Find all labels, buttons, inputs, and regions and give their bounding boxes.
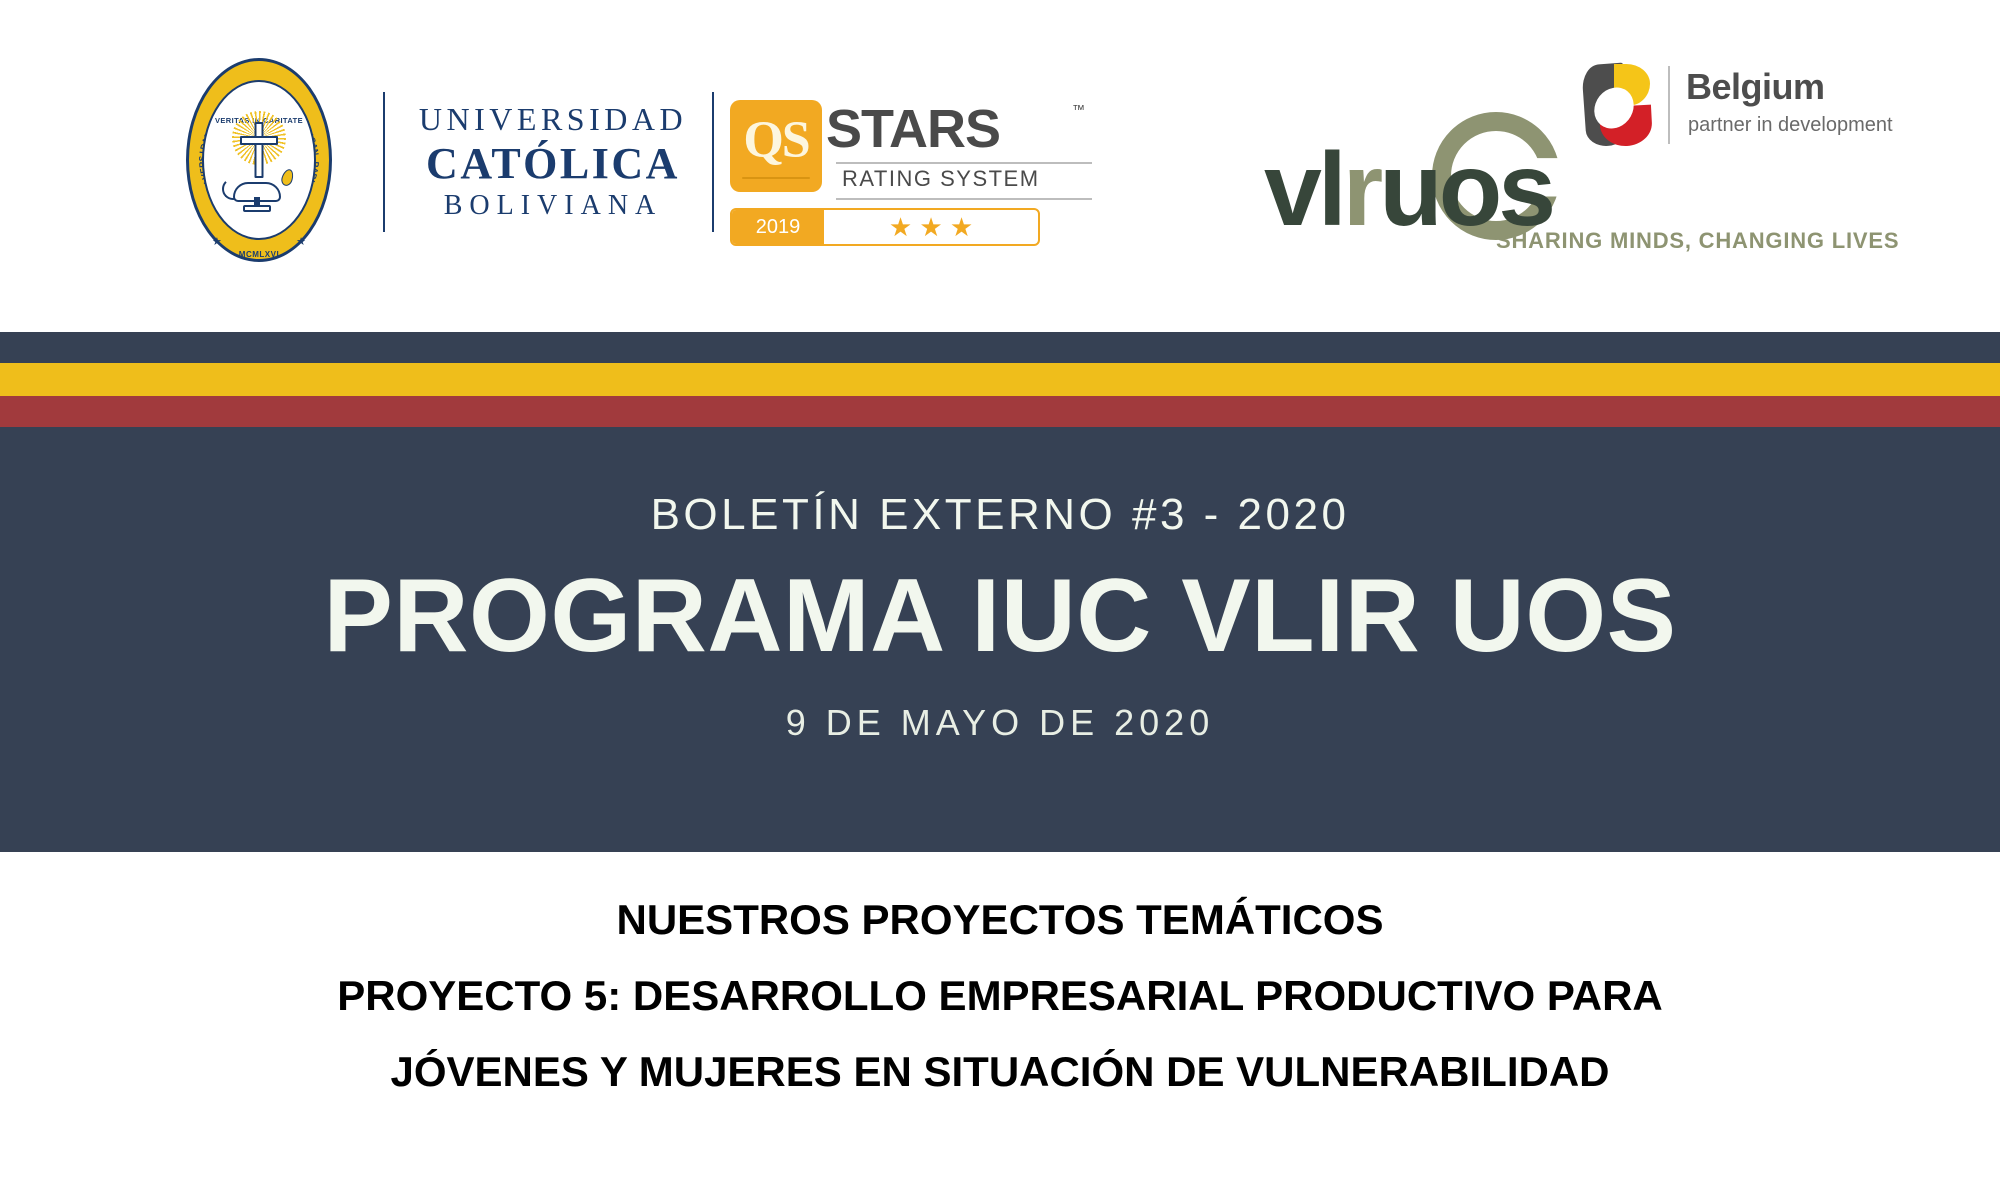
belgium-mark-icon [1580, 62, 1652, 148]
qs-rule-top [836, 162, 1092, 164]
vliruos-wordmark: vlruos [1264, 138, 1552, 242]
qs-rating-system-word: RATING SYSTEM [842, 166, 1040, 192]
ucb-wordmark-line2: CATÓLICA [418, 139, 688, 188]
vliruos-word-part1: vl [1264, 132, 1343, 248]
page-title: PROGRAMA IUC VLIR UOS [0, 564, 2000, 668]
lamp-foot [243, 205, 271, 212]
logo-bar: UNIVERSIDAD CATÓLICA BOLIVIANA "SAN PABL… [0, 0, 2000, 332]
qs-year-label: 2019 [732, 210, 824, 244]
ucb-wordmark-line3: BOLIVIANA [418, 188, 688, 223]
qs-trademark-mark: ™ [1072, 102, 1085, 117]
newsletter-page: UNIVERSIDAD CATÓLICA BOLIVIANA "SAN PABL… [0, 0, 2000, 1185]
seal-star-left-icon: ★ [212, 237, 222, 248]
qs-star-rating-icons: ★ ★ ★ [824, 210, 1038, 244]
title-banner: BOLETÍN EXTERNO #3 - 2020 PROGRAMA IUC V… [0, 332, 2000, 852]
banner-date: 9 DE MAYO DE 2020 [0, 702, 2000, 744]
belgium-subtitle: partner in development [1688, 114, 1893, 137]
gold-stripe [0, 363, 2000, 396]
qs-tile-underline [742, 177, 810, 179]
body-subheading-line1: PROYECTO 5: DESARROLLO EMPRESARIAL PRODU… [0, 970, 2000, 1023]
belgium-logo: Belgium partner in development [1580, 62, 1900, 148]
qs-rule-bottom [836, 198, 1092, 200]
vliruos-word-part2: r [1343, 132, 1379, 248]
ucb-wordmark: UNIVERSIDAD CATÓLICA BOLIVIANA [418, 100, 688, 223]
belgium-title: Belgium [1686, 66, 1825, 108]
qs-year-rating-bar: 2019 ★ ★ ★ [730, 208, 1040, 246]
vliruos-tagline: SHARING MINDS, CHANGING LIVES [1496, 228, 1899, 254]
flame-icon [280, 168, 296, 188]
seal-founding-year: MCMLXVI [239, 250, 279, 259]
logo-divider-right [712, 92, 714, 232]
banner-kicker: BOLETÍN EXTERNO #3 - 2020 [0, 490, 2000, 540]
ucb-seal-icon: UNIVERSIDAD CATÓLICA BOLIVIANA "SAN PABL… [186, 58, 332, 262]
logo-divider-left [383, 92, 385, 232]
qs-stars-word: STARS [826, 102, 1000, 156]
qs-tile-text: QS [743, 111, 808, 170]
body-subheading-line2: JÓVENES Y MUJERES EN SITUACIÓN DE VULNER… [0, 1046, 2000, 1099]
belgium-divider [1668, 66, 1670, 144]
body-section: NUESTROS PROYECTOS TEMÁTICOS PROYECTO 5:… [0, 852, 2000, 1185]
seal-inner-field: VERITAS IN CARITATE [202, 80, 316, 240]
oil-lamp-icon [223, 166, 295, 212]
body-heading: NUESTROS PROYECTOS TEMÁTICOS [0, 894, 2000, 947]
qs-stars-logo: QS STARS ™ RATING SYSTEM 2019 ★ ★ ★ [730, 80, 1050, 240]
red-stripe [0, 396, 2000, 427]
qs-tile-icon: QS [730, 100, 822, 192]
ucb-wordmark-line1: UNIVERSIDAD [418, 100, 688, 139]
seal-star-right-icon: ★ [296, 237, 306, 248]
cross-horizontal-bar [240, 136, 278, 145]
